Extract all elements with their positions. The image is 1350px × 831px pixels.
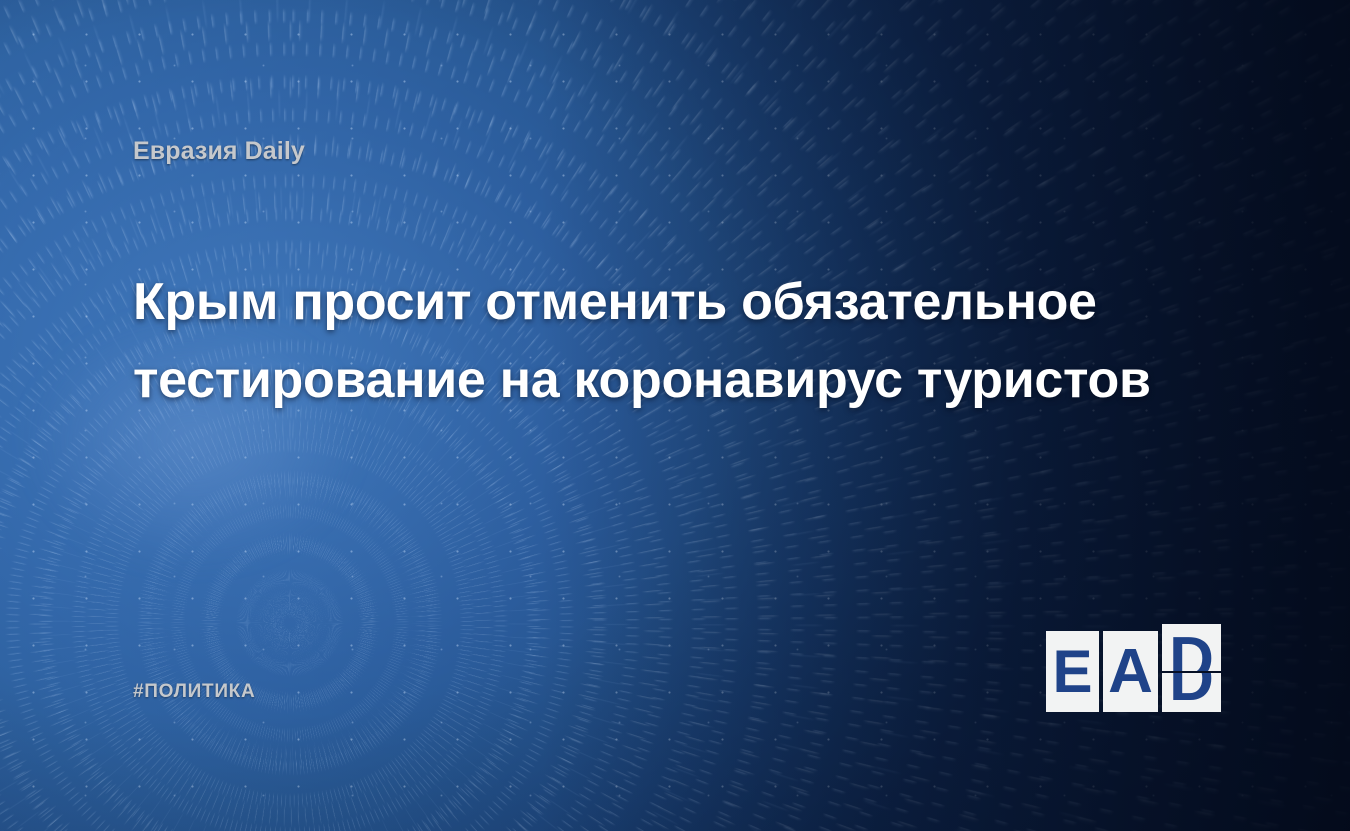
logo-tile-d-top: D bbox=[1162, 624, 1221, 671]
logo-tile-e: E bbox=[1046, 631, 1099, 712]
category-tag-politics[interactable]: #ПОЛИТИКА bbox=[133, 681, 255, 703]
page-title: Крым просит отменить обязательное тестир… bbox=[133, 263, 1218, 419]
logo-letter-e: E bbox=[1052, 642, 1092, 702]
ead-logo[interactable]: E A D D bbox=[1046, 624, 1221, 712]
logo-tile-d-bottom: D bbox=[1162, 673, 1221, 712]
news-share-card: Евразия Daily Крым просит отменить обяза… bbox=[0, 0, 1350, 831]
logo-letter-d-top: D bbox=[1169, 629, 1214, 672]
card-content: Евразия Daily Крым просит отменить обяза… bbox=[0, 0, 1350, 831]
logo-tile-a: A bbox=[1103, 631, 1158, 712]
logo-letter-a: A bbox=[1108, 641, 1153, 703]
brand-name[interactable]: Евразия Daily bbox=[133, 137, 305, 166]
logo-letter-d-bottom: D bbox=[1169, 673, 1214, 711]
